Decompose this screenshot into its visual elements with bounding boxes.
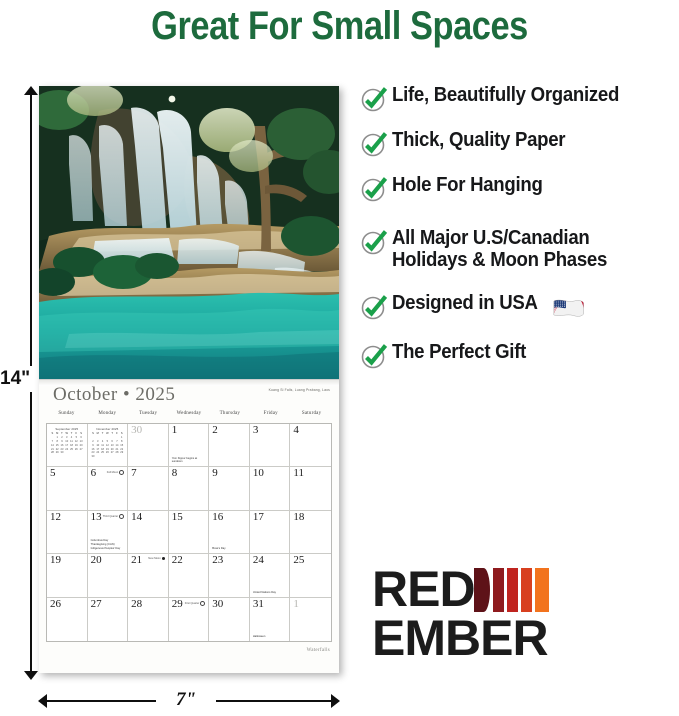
day-number: 17	[253, 511, 264, 524]
calendar-day-cell[interactable]: 4	[290, 424, 331, 467]
mini-day: 20	[79, 444, 84, 448]
calendar-day-cell[interactable]: 30	[209, 598, 250, 641]
calendar-header: October • 2025 Kuang Si Falls, Luang Pra…	[39, 380, 339, 413]
weekday-friday: Friday	[250, 411, 291, 422]
day-number: 16	[212, 511, 223, 524]
weekday-wednesday: Wednesday	[169, 411, 210, 422]
logo-ember-bars	[471, 568, 549, 612]
check-circle-icon	[360, 342, 390, 370]
mini-calendar: November 2025SMTWTFS12345678910111213141…	[91, 427, 125, 459]
day-number: 1	[293, 598, 299, 611]
red-ember-logo: RED EMBER	[372, 566, 602, 661]
calendar-day-cell[interactable]: 25	[290, 554, 331, 597]
calendar-day-cell[interactable]: 19	[47, 554, 88, 597]
calendar-day-cell[interactable]: 20	[88, 554, 129, 597]
feature-item: All Major U.S/Canadian Holidays & Moon P…	[360, 227, 670, 272]
day-number: 12	[50, 511, 61, 524]
calendar-day-cell[interactable]: 16Boss's Day	[209, 511, 250, 554]
day-number: 5	[50, 467, 56, 480]
day-number: 13	[91, 511, 102, 524]
calendar-day-cell[interactable]: 18	[290, 511, 331, 554]
weekday-monday: Monday	[87, 411, 128, 422]
page-title: Great For Small Spaces	[48, 4, 632, 49]
calendar-day-cell[interactable]: 7	[128, 467, 169, 510]
day-number: 26	[50, 598, 61, 611]
calendar-grid-page: October • 2025 Kuang Si Falls, Luang Pra…	[39, 379, 339, 673]
weekday-tuesday: Tuesday	[128, 411, 169, 422]
waterfall-illustration	[39, 86, 339, 379]
holiday-note: Yom Kippur begins at sundown	[172, 457, 207, 465]
weekday-thursday: Thursday	[209, 411, 250, 422]
holiday-note: Halloween	[253, 635, 288, 639]
calendar-day-cell[interactable]: 15	[169, 511, 210, 554]
calendar-day-cell[interactable]: 27	[88, 598, 129, 641]
day-number: 10	[253, 467, 264, 480]
mini-day: 26	[74, 448, 79, 452]
day-number: 19	[50, 554, 61, 567]
calendar-day-cell[interactable]: 1Yom Kippur begins at sundown	[169, 424, 210, 467]
width-measure-arrow: 7"	[38, 694, 340, 708]
day-number: 18	[293, 511, 304, 524]
calendar-day-cell[interactable]: 26	[47, 598, 88, 641]
feature-label: The Perfect Gift	[392, 341, 526, 363]
calendar-day-cell[interactable]: 24United Nations Day	[250, 554, 291, 597]
calendar-day-cell[interactable]: 8	[169, 467, 210, 510]
day-number: 15	[172, 511, 183, 524]
check-circle-icon	[360, 85, 390, 113]
check-circle-icon	[360, 130, 392, 160]
calendar-day-cell[interactable]: November 2025SMTWTFS12345678910111213141…	[88, 424, 129, 467]
logo-bar-1	[493, 568, 504, 612]
holiday-note: Boss's Day	[212, 547, 247, 551]
calendar-day-grid: September 2025SMTWTFS1234567891011121314…	[46, 423, 332, 642]
logo-bar-2	[507, 568, 518, 612]
calendar-month-year: October • 2025	[53, 384, 175, 406]
calendar-day-cell[interactable]: September 2025SMTWTFS1234567891011121314…	[47, 424, 88, 467]
check-circle-icon	[360, 228, 392, 258]
moon-phase-label: Third Quarter	[103, 514, 124, 519]
day-number: 31	[253, 598, 264, 611]
calendar-day-cell[interactable]: 14	[128, 511, 169, 554]
day-number: 2	[212, 424, 218, 437]
day-number: 1	[172, 424, 178, 437]
check-circle-icon	[360, 293, 390, 321]
mini-day	[79, 451, 84, 455]
calendar-day-cell[interactable]: 28	[128, 598, 169, 641]
calendar-day-cell[interactable]: 3	[250, 424, 291, 467]
feature-item: Life, Beautifully Organized	[360, 84, 670, 115]
holiday-note: Columbus DayThanksgiving (CAN)Indigenous…	[91, 539, 126, 551]
calendar-day-cell[interactable]: 30	[128, 424, 169, 467]
calendar-day-cell[interactable]: 29First Quarter	[169, 598, 210, 641]
calendar-day-cell[interactable]: 23	[209, 554, 250, 597]
holiday-note: United Nations Day	[253, 591, 288, 595]
day-number: 8	[172, 467, 178, 480]
day-number: 20	[91, 554, 102, 567]
moon-phase-label: First Quarter	[185, 601, 206, 606]
mini-calendar-table: SMTWTFS123456789101112131415161718192021…	[91, 432, 125, 459]
check-circle-icon	[360, 228, 390, 256]
arrow-head-down-icon	[24, 671, 38, 680]
feature-label: Designed in USA	[392, 292, 584, 318]
calendar-theme-footer: Waterfalls	[307, 648, 330, 653]
mini-day: 19	[74, 444, 79, 448]
calendar-day-cell[interactable]: 2	[209, 424, 250, 467]
day-number: 22	[172, 554, 183, 567]
day-number: 9	[212, 467, 218, 480]
logo-word-red: RED	[372, 566, 475, 612]
day-number: 11	[293, 467, 304, 480]
logo-word-ember: EMBER	[372, 610, 548, 666]
check-circle-icon	[360, 175, 390, 203]
feature-list: Life, Beautifully OrganizedThick, Qualit…	[360, 84, 670, 386]
check-circle-icon	[360, 85, 392, 115]
mini-day: 15	[55, 444, 60, 448]
mini-calendar-title: September 2025	[50, 427, 84, 431]
calendar-day-cell[interactable]: 6Full Moon	[88, 467, 129, 510]
weekday-saturday: Saturday	[291, 411, 332, 422]
day-number: 7	[131, 467, 137, 480]
check-circle-icon	[360, 130, 390, 158]
calendar-photo-caption: Kuang Si Falls, Luang Prabang, Laos	[269, 388, 330, 392]
feature-label: Thick, Quality Paper	[392, 129, 565, 151]
feature-label: Hole For Hanging	[392, 174, 543, 196]
day-number: 21	[131, 554, 142, 567]
check-circle-icon	[360, 342, 392, 372]
feature-item: Hole For Hanging	[360, 174, 670, 205]
logo-bar-4	[535, 568, 549, 612]
calendar-product-image: October • 2025 Kuang Si Falls, Luang Pra…	[39, 86, 339, 673]
mini-calendar-table: SMTWTFS123456789101112131415161718192021…	[50, 432, 84, 455]
feature-label: All Major U.S/Canadian Holidays & Moon P…	[392, 227, 607, 272]
calendar-day-cell[interactable]: 11	[290, 467, 331, 510]
check-circle-icon	[360, 175, 392, 205]
mini-day	[119, 455, 124, 459]
feature-label: Life, Beautifully Organized	[392, 84, 619, 106]
mini-day: 27	[79, 448, 84, 452]
calendar-day-cell[interactable]: 5	[47, 467, 88, 510]
mini-calendar: September 2025SMTWTFS1234567891011121314…	[50, 427, 84, 455]
mini-calendar-title: November 2025	[91, 427, 125, 431]
moon-phase-label: New Moon	[148, 557, 164, 560]
check-circle-icon	[360, 293, 392, 323]
day-number: 28	[131, 598, 142, 611]
calendar-day-cell[interactable]: 22	[169, 554, 210, 597]
moon-phase-label: Full Moon	[107, 470, 124, 475]
calendar-day-cell[interactable]: 9	[209, 467, 250, 510]
calendar-day-cell[interactable]: 17	[250, 511, 291, 554]
width-measure-label: 7"	[156, 689, 216, 711]
logo-bar-3	[521, 568, 532, 612]
weekday-header-row: SundayMondayTuesdayWednesdayThursdayFrid…	[46, 411, 332, 422]
calendar-photo-waterfall	[39, 86, 339, 379]
feature-item: Designed in USA	[360, 292, 670, 323]
logo-bar-0	[474, 568, 490, 612]
us-flag-icon	[545, 296, 584, 318]
arrow-head-right-icon	[331, 694, 340, 708]
day-number: 30	[131, 424, 142, 437]
day-number: 27	[91, 598, 102, 611]
day-number: 14	[131, 511, 142, 524]
day-number: 3	[253, 424, 259, 437]
weekday-sunday: Sunday	[46, 411, 87, 422]
day-number: 30	[212, 598, 223, 611]
calendar-day-cell[interactable]: 10	[250, 467, 291, 510]
day-number: 29	[172, 598, 183, 611]
day-number: 6	[91, 467, 97, 480]
day-number: 23	[212, 554, 223, 567]
calendar-day-cell[interactable]: 13Third QuarterColumbus DayThanksgiving …	[88, 511, 129, 554]
calendar-day-cell[interactable]: 21New Moon	[128, 554, 169, 597]
calendar-day-cell[interactable]: 12	[47, 511, 88, 554]
day-number: 24	[253, 554, 264, 567]
feature-item: Thick, Quality Paper	[360, 129, 670, 160]
height-measure-label: 14"	[0, 366, 38, 392]
calendar-day-cell[interactable]: 1	[290, 598, 331, 641]
day-number: 25	[293, 554, 304, 567]
day-number: 4	[293, 424, 299, 437]
us-flag-icon	[553, 298, 585, 318]
calendar-day-cell[interactable]: 31Halloween	[250, 598, 291, 641]
mini-day: 13	[110, 444, 115, 448]
feature-item: The Perfect Gift	[360, 341, 670, 372]
